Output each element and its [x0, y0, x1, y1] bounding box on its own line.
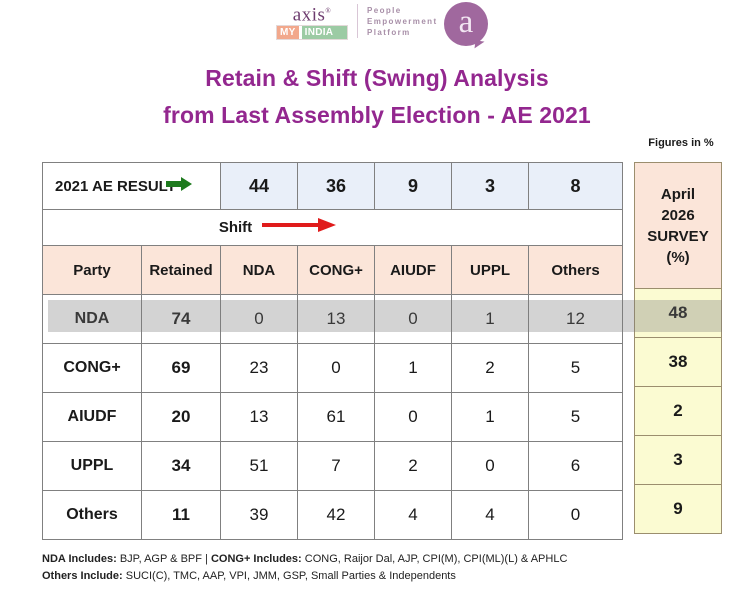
survey-header-line-3: SURVEY — [636, 226, 720, 247]
speech-bubble-logo: a — [444, 2, 492, 50]
speech-bubble-letter: a — [459, 6, 474, 39]
survey-value-aiudf: 2 — [635, 387, 722, 436]
ae-result-value-uppl: 3 — [452, 163, 529, 210]
logo-divider — [357, 4, 358, 38]
row-retained: 34 — [142, 442, 221, 491]
row-party-name: Others — [43, 491, 142, 540]
row-party-name: NDA — [43, 295, 142, 344]
row-shift-to-cong: 42 — [298, 491, 375, 540]
logo-bar: axis® MY INDIA People Empowerment Platfo… — [0, 0, 754, 52]
survey-column-table: April 2026 SURVEY (%) 48 38 2 3 9 — [634, 162, 722, 534]
row-party-name: CONG+ — [43, 344, 142, 393]
row-shift-to-nda: 13 — [221, 393, 298, 442]
column-header-party: Party — [43, 246, 142, 295]
survey-header-row: April 2026 SURVEY (%) — [635, 163, 722, 289]
row-party-name: AIUDF — [43, 393, 142, 442]
survey-row: 9 — [635, 485, 722, 534]
row-retained: 69 — [142, 344, 221, 393]
survey-value-others: 9 — [635, 485, 722, 534]
india-label: INDIA — [302, 26, 347, 39]
footnote-nda-text: BJP, AGP & BPF | — [117, 553, 211, 565]
tagline-line-2: Empowerment — [367, 16, 438, 27]
row-shift-to-others: 0 — [529, 491, 623, 540]
survey-column-header: April 2026 SURVEY (%) — [635, 163, 722, 289]
column-header-retained: Retained — [142, 246, 221, 295]
tagline-line-3: Platform — [367, 27, 438, 38]
column-header-uppl: UPPL — [452, 246, 529, 295]
speech-bubble-icon: a — [444, 2, 488, 46]
footnote-others-text: SUCI(C), TMC, AAP, VPI, JMM, GSP, Small … — [123, 570, 456, 582]
row-shift-to-aiudf: 2 — [375, 442, 452, 491]
row-shift-to-nda: 39 — [221, 491, 298, 540]
footnote-cong-text: CONG, Raijor Dal, AJP, CPI(M), CPI(ML)(L… — [302, 553, 568, 565]
footnote-line-1: NDA Includes: BJP, AGP & BPF | CONG+ Inc… — [42, 551, 702, 568]
title-line-2: from Last Assembly Election - AE 2021 — [0, 97, 754, 134]
footnotes: NDA Includes: BJP, AGP & BPF | CONG+ Inc… — [42, 551, 702, 585]
row-shift-to-uppl: 2 — [452, 344, 529, 393]
tagline-line-1: People — [367, 5, 438, 16]
survey-header-line-2: 2026 — [636, 205, 720, 226]
table-header-row: Party Retained NDA CONG+ AIUDF UPPL Othe… — [43, 246, 623, 295]
survey-row: 2 — [635, 387, 722, 436]
survey-value-uppl: 3 — [635, 436, 722, 485]
axis-text: axis® — [276, 2, 348, 24]
ae-result-row: 2021 AE RESULT 44 36 9 3 8 — [43, 163, 623, 210]
ae-result-label-text: 2021 AE RESULT — [55, 178, 176, 195]
table-row: AIUDF 20 13 61 0 1 5 — [43, 393, 623, 442]
brand-tagline: People Empowerment Platform — [367, 5, 438, 38]
row-shift-to-nda: 51 — [221, 442, 298, 491]
column-header-cong: CONG+ — [298, 246, 375, 295]
row-shift-to-aiudf: 0 — [375, 393, 452, 442]
table-row: CONG+ 69 23 0 1 2 5 — [43, 344, 623, 393]
row-shift-to-others: 5 — [529, 344, 623, 393]
ae-result-value-cong: 36 — [298, 163, 375, 210]
row-shift-to-uppl: 1 — [452, 393, 529, 442]
green-right-arrow-icon — [166, 177, 192, 195]
row-retained: 74 — [142, 295, 221, 344]
ae-result-value-nda: 44 — [221, 163, 298, 210]
red-right-arrow-icon — [262, 217, 336, 238]
footnote-line-2: Others Include: SUCI(C), TMC, AAP, VPI, … — [42, 568, 702, 585]
row-shift-to-cong: 0 — [298, 344, 375, 393]
row-shift-to-aiudf: 1 — [375, 344, 452, 393]
ae-result-label: 2021 AE RESULT — [43, 163, 221, 210]
figures-in-percent-note: Figures in % — [633, 137, 729, 149]
ae-result-value-others: 8 — [529, 163, 623, 210]
row-shift-to-aiudf: 4 — [375, 491, 452, 540]
row-shift-to-cong: 7 — [298, 442, 375, 491]
my-label: MY — [277, 26, 299, 39]
row-shift-to-others: 12 — [529, 295, 623, 344]
footnote-others-label: Others Include: — [42, 570, 123, 582]
speech-tail-icon — [474, 40, 484, 49]
shift-label: Shift — [219, 219, 252, 236]
row-party-name: UPPL — [43, 442, 142, 491]
survey-row: 3 — [635, 436, 722, 485]
axis-my-india-logo: axis® MY INDIA People Empowerment Platfo… — [276, 2, 438, 40]
column-header-nda: NDA — [221, 246, 298, 295]
tricolor-badge: MY INDIA — [276, 25, 348, 40]
registered-mark-icon: ® — [325, 7, 331, 15]
swing-analysis-table: 2021 AE RESULT 44 36 9 3 8 Shift — [42, 162, 623, 540]
column-header-others: Others — [529, 246, 623, 295]
column-header-aiudf: AIUDF — [375, 246, 452, 295]
survey-header-line-4: (%) — [636, 247, 720, 268]
row-shift-to-nda: 0 — [221, 295, 298, 344]
row-shift-to-cong: 13 — [298, 295, 375, 344]
shift-cell: Shift — [43, 210, 623, 246]
row-shift-to-aiudf: 0 — [375, 295, 452, 344]
table-row: UPPL 34 51 7 2 0 6 — [43, 442, 623, 491]
row-shift-to-others: 6 — [529, 442, 623, 491]
title-line-1: Retain & Shift (Swing) Analysis — [0, 60, 754, 97]
table-row: Others 11 39 42 4 4 0 — [43, 491, 623, 540]
row-retained: 20 — [142, 393, 221, 442]
footnote-cong-label: CONG+ Includes: — [211, 553, 302, 565]
row-shift-to-uppl: 0 — [452, 442, 529, 491]
row-shift-to-cong: 61 — [298, 393, 375, 442]
ae-result-value-aiudf: 9 — [375, 163, 452, 210]
footnote-nda-label: NDA Includes: — [42, 553, 117, 565]
row-shift-to-uppl: 4 — [452, 491, 529, 540]
table-row: NDA 74 0 13 0 1 12 — [43, 295, 623, 344]
page-title: Retain & Shift (Swing) Analysis from Las… — [0, 60, 754, 134]
row-retained: 11 — [142, 491, 221, 540]
survey-header-line-1: April — [636, 184, 720, 205]
axis-wordmark: axis® MY INDIA — [276, 2, 348, 40]
survey-value-nda: 48 — [635, 289, 722, 338]
survey-value-cong: 38 — [635, 338, 722, 387]
row-shift-to-nda: 23 — [221, 344, 298, 393]
survey-row: 38 — [635, 338, 722, 387]
shift-row: Shift — [43, 210, 623, 246]
row-shift-to-others: 5 — [529, 393, 623, 442]
survey-row: 48 — [635, 289, 722, 338]
row-shift-to-uppl: 1 — [452, 295, 529, 344]
